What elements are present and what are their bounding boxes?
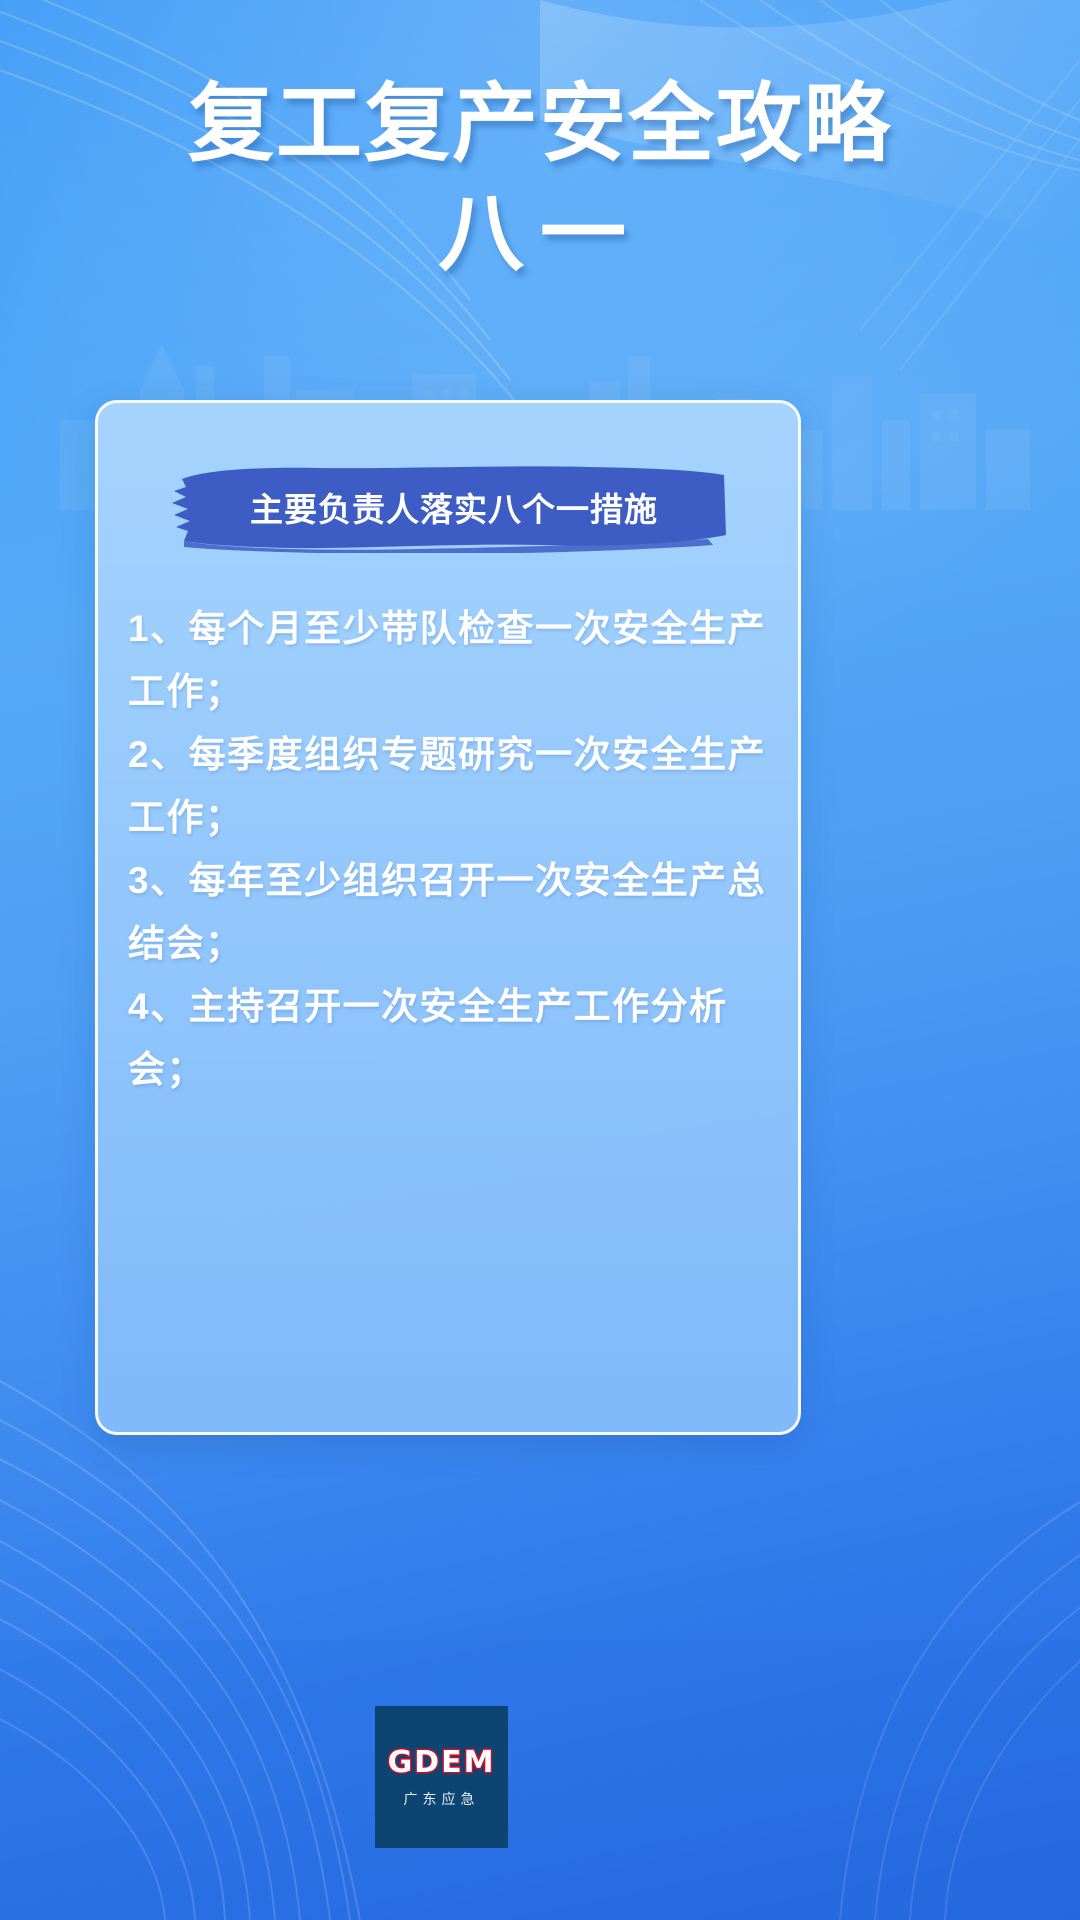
gdem-logo: GDEM 广东应急 [375,1706,508,1848]
list-item: 4、主持召开一次安全生产工作分析会； [128,975,768,1101]
list-item: 1、每个月至少带队检查一次安全生产工作； [128,597,768,723]
list-item: 2、每季度组织专题研究一次安全生产工作； [128,723,768,849]
title-line-primary: 复工复产安全攻略 [0,72,1080,176]
section-banner-label: 主要负责人落实八个一措施 [168,461,728,553]
logo-wordmark: GDEM [388,1745,496,1780]
poster-root: 复工复产安全攻略 八一 主要负责人落实八个一措施 1、每个月至少带队检查一次安全… [0,0,1080,1920]
list-item: 3、每年至少组织召开一次安全生产总结会； [128,849,768,975]
section-banner: 主要负责人落实八个一措施 [168,461,728,553]
measures-list: 1、每个月至少带队检查一次安全生产工作； 2、每季度组织专题研究一次安全生产工作… [128,597,768,1101]
content-card: 主要负责人落实八个一措施 1、每个月至少带队检查一次安全生产工作； 2、每季度组… [95,400,801,1435]
logo-subtitle: 广东应急 [404,1789,480,1809]
poster-title: 复工复产安全攻略 八一 [0,72,1080,286]
title-line-secondary: 八一 [0,182,1080,286]
